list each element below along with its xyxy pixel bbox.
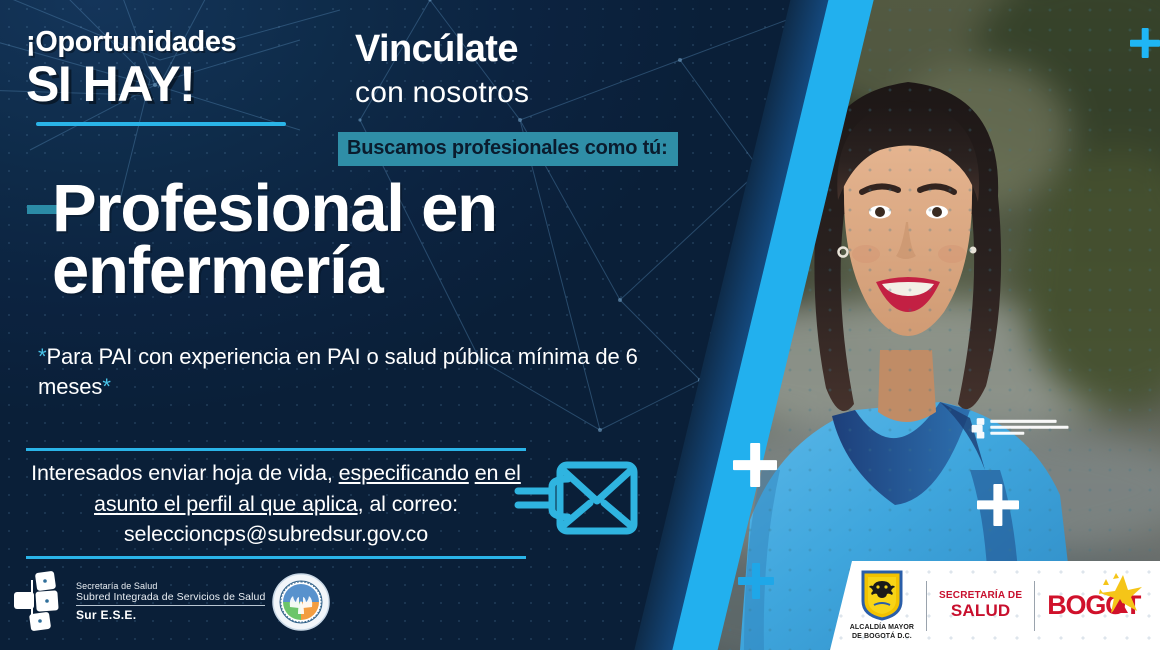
contact-email[interactable]: seleccioncps@subredsur.gov.co	[28, 519, 524, 550]
job-title-line2: enfermería	[52, 240, 497, 302]
contact-block: Interesados enviar hoja de vida, especif…	[26, 448, 526, 559]
envelope-icon	[512, 455, 640, 543]
logo-separator-2	[1034, 581, 1035, 631]
plus-mark-mid-left	[733, 443, 777, 487]
alcaldia-caption: ALCALDÍA MAYOR DE BOGOTÁ D.C.	[850, 624, 914, 642]
subred-line1: Secretaría de Salud	[76, 581, 265, 591]
interculturalidad-seal-icon	[272, 573, 330, 631]
contact-line1-plain: Interesados enviar hoja de vida,	[31, 461, 338, 485]
plus-mark-top-right	[1130, 28, 1160, 58]
seeking-banner: Buscamos profesionales como tú:	[338, 132, 678, 166]
invite-sub: con nosotros	[355, 76, 529, 110]
contact-instructions: Interesados enviar hoja de vida, especif…	[26, 451, 526, 552]
contact-line1-underlined: especificando	[339, 461, 469, 485]
cyan-divider-top	[36, 122, 286, 126]
plus-mark-bottom-left	[738, 563, 774, 599]
text-column: ¡Oportunidades SI HAY! Vincúlate con nos…	[0, 0, 720, 650]
requirement-text: Para PAI con experiencia en PAI o salud …	[38, 344, 638, 399]
subred-line2: Subred Integrada de Servicios de Salud	[76, 591, 265, 603]
subred-sur-mark-icon	[12, 570, 66, 632]
subred-sur-logo: Secretaría de Salud Subred Integrada de …	[12, 570, 265, 632]
subred-line3: Sur E.S.E.	[76, 608, 265, 622]
contact-line2-plain: , al correo:	[358, 492, 458, 516]
logo-separator-1	[926, 581, 927, 631]
job-title: Profesional en enfermería	[52, 178, 497, 303]
secretaria-line2: SALUD	[939, 602, 1022, 620]
recruitment-poster: ¡Oportunidades SI HAY! Vincúlate con nos…	[0, 0, 1160, 650]
secretaria-salud-logo: SECRETARÍA DE SALUD	[939, 591, 1022, 619]
institutional-logo-panel: ALCALDÍA MAYOR DE BOGOTÁ D.C. SECRETARÍA…	[830, 561, 1160, 650]
asterisk-close: *	[102, 374, 110, 399]
requirement-note: *Para PAI con experiencia en PAI o salud…	[38, 342, 638, 401]
alcaldia-logo: ALCALDÍA MAYOR DE BOGOTÁ D.C.	[850, 569, 914, 642]
subred-logo-divider	[76, 605, 265, 606]
contact-rule-bottom	[26, 556, 526, 559]
bogota-star-icon	[1098, 573, 1144, 615]
invite-bold: Vincúlate	[355, 28, 518, 71]
headline-accent: SI HAY!	[26, 55, 194, 113]
bogota-logo: BOGOT	[1047, 590, 1140, 621]
alcaldia-line2: DE BOGOTÁ D.C.	[850, 633, 914, 642]
bogota-coat-of-arms-icon	[860, 569, 904, 621]
alcaldia-line1: ALCALDÍA MAYOR	[850, 624, 914, 633]
plus-mark-center	[977, 484, 1019, 526]
